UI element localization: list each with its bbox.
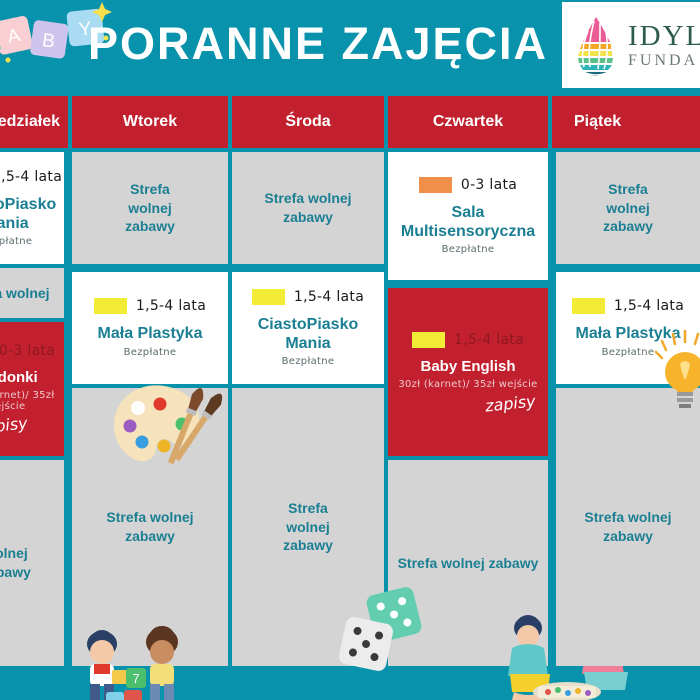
free-play-zone: Strefa wolnej zabawy — [388, 460, 548, 666]
activity-card[interactable]: 1,5-4 lata Baby English 30zł (karnet)/ 3… — [388, 288, 548, 456]
free-zone-line1: Strefa wolnej — [106, 508, 193, 527]
free-zone-line2: zabawy — [603, 527, 653, 546]
day-header-sroda: Środa — [232, 96, 384, 148]
age-badge: 0-3 lata — [0, 343, 60, 359]
free-play-zone: wolnej zabawy — [0, 460, 64, 666]
free-play-zone: Strefa wolnej zabawy — [72, 152, 228, 264]
age-label: 0-3 lata — [461, 177, 517, 193]
activity-card[interactable]: 0-3 lata Sala Multisensoryczna Bezpłatne — [388, 152, 548, 280]
page-header: A B Y PORANNE ZAJĘCIA — [0, 0, 700, 96]
free-zone-line3: zabawy — [603, 217, 653, 236]
activity-title: Baby English — [420, 358, 515, 376]
age-label: 1,5-4 lata — [0, 169, 62, 185]
day-column-czwartek: Czwartek 0-3 lata Sala Multisensoryczna … — [388, 96, 548, 700]
activity-title: Bajdonki — [0, 369, 38, 387]
activity-card[interactable]: 1,5-4 lata CiastoPiasko Mania Bezpłatne — [0, 152, 64, 264]
free-zone-line2: wolnej — [128, 199, 172, 218]
activity-title: Mała Plastyka — [576, 324, 681, 343]
yellow-swatch-icon — [412, 332, 445, 348]
leaf-droplet-logo-icon — [570, 11, 622, 79]
day-header-poniedzialek: Poniedziałek — [0, 96, 68, 148]
activity-title: CiastoPiasko Mania — [0, 195, 60, 233]
free-zone-line3: zabawy — [125, 217, 175, 236]
free-zone-line2: wolnej — [286, 518, 330, 537]
age-label: 1,5-4 lata — [454, 332, 524, 348]
orange-swatch-icon — [419, 177, 452, 193]
free-zone-line1: Strefa — [608, 180, 648, 199]
day-column-sroda: Środa Strefa wolnej zabawy 1,5-4 lata Ci… — [232, 96, 384, 700]
age-badge: 0-3 lata — [392, 177, 544, 193]
free-play-zone: Strefa wolnej zabawy — [556, 152, 700, 264]
age-badge: 1,5-4 lata — [392, 332, 544, 348]
age-label: 1,5-4 lata — [136, 298, 206, 314]
age-label: 0-3 lata — [0, 343, 55, 359]
activity-price: 30zł (karnet)/ 35zł wejście — [398, 379, 537, 390]
free-zone-line1: Strefa wolnej — [264, 189, 351, 208]
free-zone-line2: zabawy — [125, 527, 175, 546]
age-badge: 1,5-4 lata — [236, 289, 380, 305]
day-column-wtorek: Wtorek Strefa wolnej zabawy 1,5-4 lata M… — [72, 96, 228, 700]
page-title: PORANNE ZAJĘCIA — [88, 18, 548, 70]
activity-card[interactable]: 0-3 lata Bajdonki 30zł (karnet)/ 35zł we… — [0, 322, 64, 456]
age-badge: 1,5-4 lata — [76, 298, 224, 314]
activity-price: Bezpłatne — [282, 356, 335, 367]
free-zone-line1: Strefa — [288, 499, 328, 518]
free-zone-line2: wolnej — [0, 544, 28, 563]
activity-card[interactable]: 1,5-4 lata Mała Plastyka Bezpłatne — [556, 272, 700, 384]
free-play-zone: Strefa wolnej zabawy — [556, 388, 700, 666]
free-zone-line1: Strefa wolnej zabawy — [398, 554, 539, 573]
signup-label[interactable]: zapisy — [0, 413, 28, 437]
activity-title: Mała Plastyka — [98, 324, 203, 343]
day-column-piatek: Piątek Strefa wolnej zabawy 1,5-4 lata M… — [552, 96, 700, 700]
svg-text:7: 7 — [132, 671, 139, 686]
logo-name: IDYL — [628, 22, 700, 51]
free-play-zone: Strefa wolnej zabawy — [232, 388, 384, 666]
free-zone-line1: Strefa wolnej — [0, 284, 50, 303]
free-zone-line2: zabawy — [283, 208, 333, 227]
free-play-zone: Strefa wolnej zabawy — [72, 388, 228, 666]
free-play-zone: Strefa wolnej zabawy — [232, 152, 384, 264]
activity-price: 30zł (karnet)/ 35zł wejście — [0, 390, 60, 412]
schedule-grid: Poniedziałek 1,5-4 lata CiastoPiasko Man… — [0, 96, 700, 700]
day-column-poniedzialek: Poniedziałek 1,5-4 lata CiastoPiasko Man… — [0, 96, 68, 700]
age-badge: 1,5-4 lata — [0, 169, 60, 185]
activity-price: Bezpłatne — [124, 347, 177, 358]
logo: IDYL FUNDA — [562, 2, 700, 88]
age-badge: 1,5-4 lata — [560, 298, 696, 314]
free-zone-line1: Strefa — [130, 180, 170, 199]
free-zone-line2: wolnej — [606, 199, 650, 218]
activity-card[interactable]: 1,5-4 lata CiastoPiasko Mania Bezpłatne — [232, 272, 384, 384]
activity-price: Bezpłatne — [0, 236, 32, 247]
yellow-swatch-icon — [572, 298, 605, 314]
free-zone-line3: zabawy — [283, 536, 333, 555]
age-label: 1,5-4 lata — [614, 298, 684, 314]
activity-title: Sala Multisensoryczna — [392, 203, 544, 241]
day-header-wtorek: Wtorek — [72, 96, 228, 148]
activity-card[interactable]: 1,5-4 lata Mała Plastyka Bezpłatne — [72, 272, 228, 384]
yellow-swatch-icon — [252, 289, 285, 305]
free-play-zone: Strefa wolnej — [0, 268, 64, 318]
activity-price: Bezpłatne — [602, 347, 655, 358]
day-header-piatek: Piątek — [552, 96, 700, 148]
age-label: 1,5-4 lata — [294, 289, 364, 305]
signup-label[interactable]: zapisy — [485, 391, 537, 415]
day-header-czwartek: Czwartek — [388, 96, 548, 148]
logo-subtitle: FUNDA — [628, 53, 700, 69]
yellow-swatch-icon — [94, 298, 127, 314]
activity-title: CiastoPiasko Mania — [236, 315, 380, 353]
free-zone-line1: Strefa wolnej — [584, 508, 671, 527]
activity-price: Bezpłatne — [442, 244, 495, 255]
free-zone-line3: zabawy — [0, 563, 31, 582]
